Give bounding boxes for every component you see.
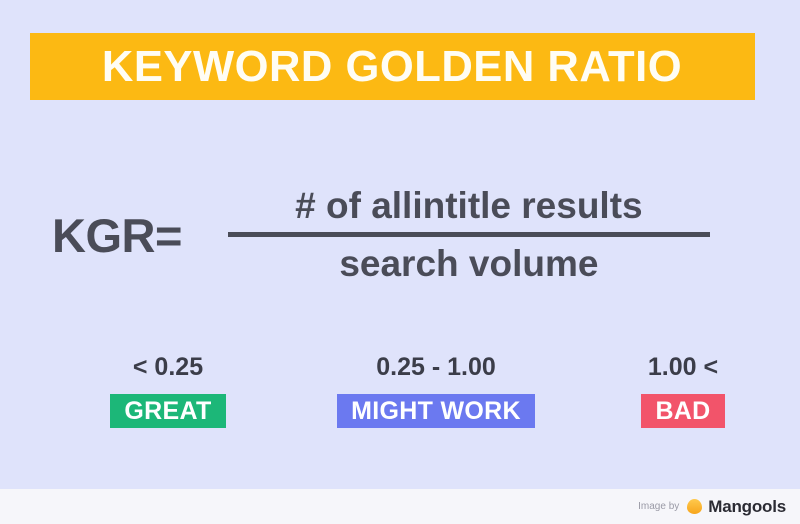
formula-denominator: search volume bbox=[339, 241, 598, 284]
range-item-bad: 1.00 < BAD bbox=[588, 355, 778, 428]
fraction-bar bbox=[228, 232, 710, 237]
status-badge-bad: BAD bbox=[641, 394, 724, 428]
formula-fraction: # of allintitle results search volume bbox=[228, 187, 710, 284]
formula-numerator: # of allintitle results bbox=[295, 187, 642, 230]
brand-name: Mangools bbox=[708, 498, 786, 515]
formula-left-term: KGR= bbox=[52, 212, 182, 259]
range-legend: < 0.25 GREAT 0.25 - 1.00 MIGHT WORK 1.00… bbox=[0, 355, 800, 428]
page-title: KEYWORD GOLDEN RATIO bbox=[102, 45, 682, 89]
mangools-drop-icon bbox=[687, 499, 702, 514]
image-credit: Image by Mangools bbox=[638, 498, 786, 515]
credit-label: Image by bbox=[638, 502, 679, 512]
range-item-might-work: 0.25 - 1.00 MIGHT WORK bbox=[314, 355, 558, 428]
status-badge-might-work: MIGHT WORK bbox=[337, 394, 535, 428]
status-badge-great: GREAT bbox=[110, 394, 225, 428]
range-value-bad: 1.00 < bbox=[648, 355, 718, 380]
title-banner: KEYWORD GOLDEN RATIO bbox=[30, 33, 755, 100]
range-value-great: < 0.25 bbox=[133, 355, 203, 380]
range-item-great: < 0.25 GREAT bbox=[52, 355, 284, 428]
footer-credit-bar: Image by Mangools bbox=[0, 489, 800, 524]
kgr-formula: KGR= # of allintitle results search volu… bbox=[0, 168, 800, 303]
kgr-infographic: KEYWORD GOLDEN RATIO KGR= # of allintitl… bbox=[0, 0, 800, 524]
range-value-might-work: 0.25 - 1.00 bbox=[376, 355, 496, 380]
